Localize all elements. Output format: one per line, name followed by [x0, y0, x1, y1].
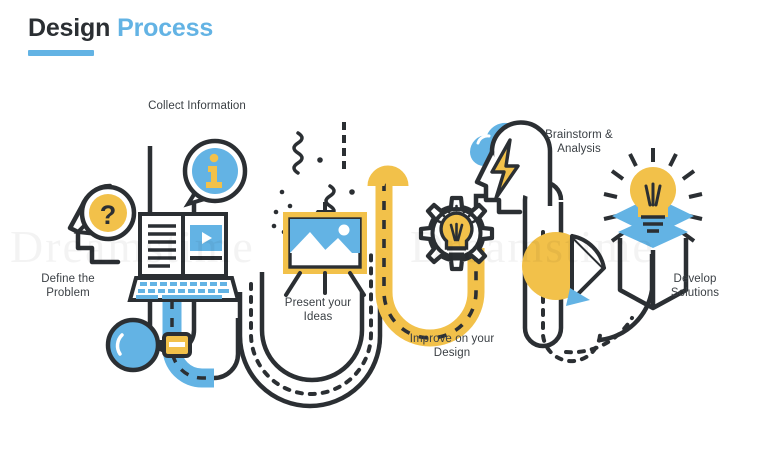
question-mark-icon: ? [100, 200, 117, 230]
path-segment-present-inner-u [262, 272, 362, 380]
icon-group-collect-information [108, 141, 245, 370]
icon-group-present-your-ideas [286, 202, 364, 295]
design-process-illustration: ? [0, 0, 768, 461]
step-label-develop-solutions: Develop Solutions [640, 272, 750, 300]
step-label-present-your-ideas: Present your Ideas [256, 296, 380, 324]
info-dot-icon [210, 154, 219, 163]
magnifier-handle-stripe [169, 342, 185, 347]
easel-legs [286, 273, 364, 295]
magnifier-icon [108, 320, 158, 370]
squiggle-icon-1 [294, 133, 302, 173]
step-label-brainstorm-analysis: Brainstorm & Analysis [518, 128, 640, 156]
step-label-improve-on-your-design: Improve on your Design [382, 332, 522, 360]
icon-group-define-the-problem: ? [70, 186, 134, 262]
icon-group-improve-on-your-design [421, 198, 492, 269]
infographic-canvas: DesignProcess [0, 0, 768, 461]
step-label-collect-information: Collect Information [112, 99, 282, 113]
picture-icon [290, 219, 360, 253]
path-segment-present-u [214, 318, 238, 378]
dotted-line-icon [342, 122, 346, 169]
step-label-define-the-problem: Define the Problem [12, 272, 124, 300]
